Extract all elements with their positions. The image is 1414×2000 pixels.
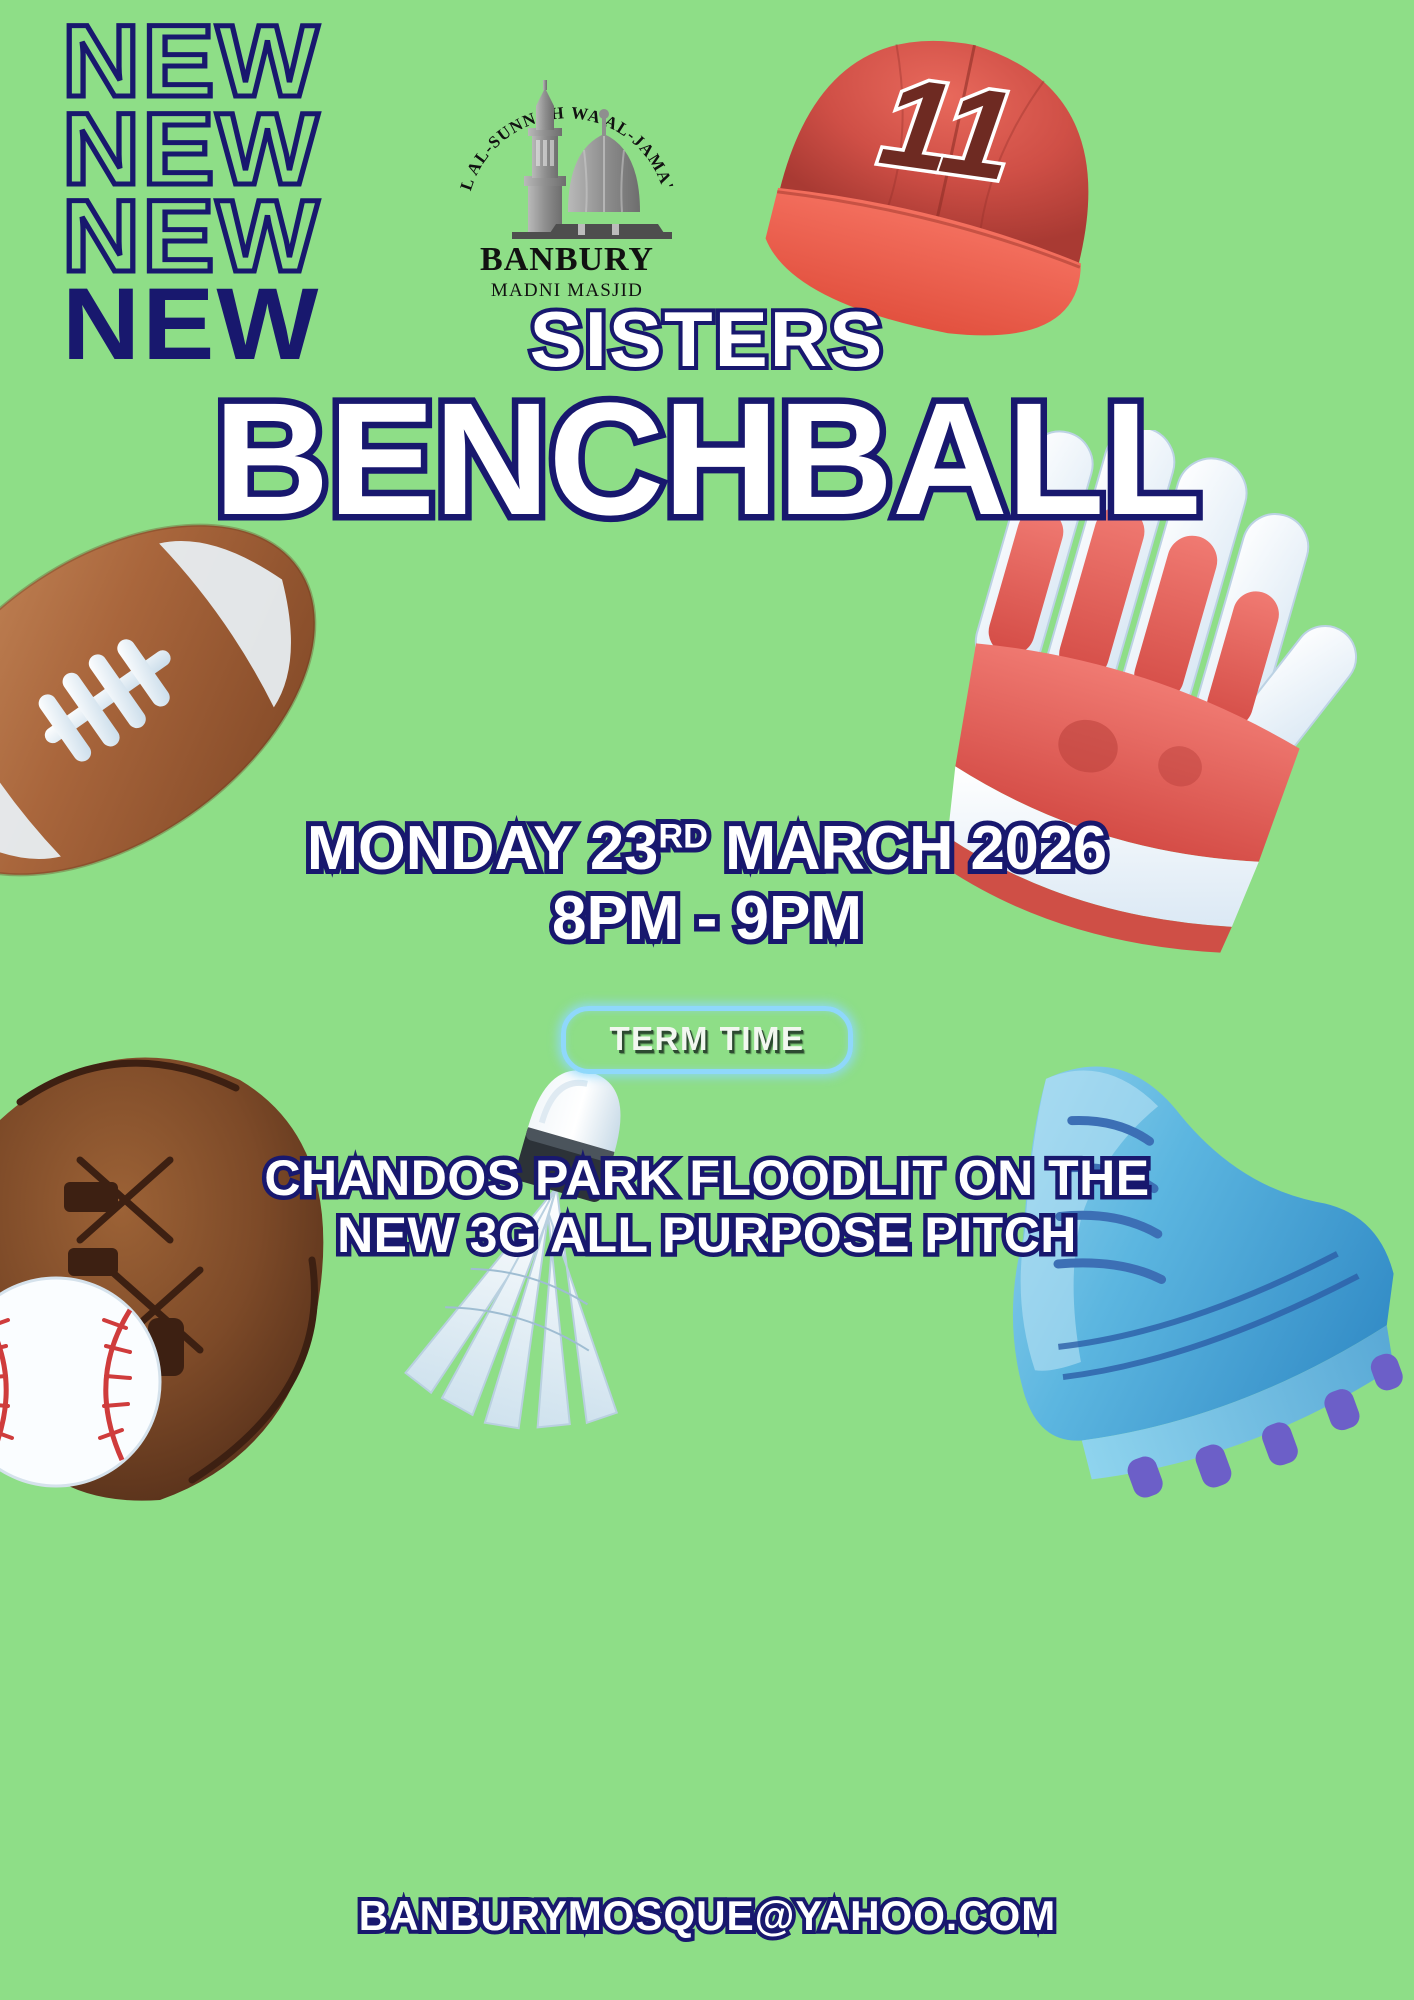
event-date-ordinal: RD (658, 817, 708, 855)
footer-block: BANBURYMOSQUE@YAHOO.COM (0, 1892, 1414, 1940)
logo-arc-text: AHL AL-SUNNAH WA AL-JAMA'AH (452, 72, 678, 193)
term-badge-label: TERM TIME (610, 1020, 805, 1057)
event-time: 8PM - 9PM (0, 886, 1414, 952)
headline-block: SISTERS BENCHBALL (0, 300, 1414, 534)
event-date-prefix: MONDAY 23 (307, 814, 658, 883)
venue-block: CHANDOS PARK FLOODLIT ON THE NEW 3G ALL … (0, 1150, 1414, 1264)
venue-line-1: CHANDOS PARK FLOODLIT ON THE (0, 1150, 1414, 1207)
datetime-block: MONDAY 23RD MARCH 2026 8PM - 9PM (0, 816, 1414, 951)
baseball-mitt-illustration (0, 1010, 360, 1530)
event-date: MONDAY 23RD MARCH 2026 (7, 816, 1407, 882)
cap-number-text: 11 (873, 49, 1022, 207)
mosque-logo: AHL AL-SUNNAH WA AL-JAMA'AH (452, 72, 682, 302)
event-date-suffix: MARCH 2026 (708, 814, 1107, 883)
page-title: BENCHBALL (0, 384, 1414, 534)
baseball-illustration (0, 1278, 160, 1486)
contact-email[interactable]: BANBURYMOSQUE@YAHOO.COM (358, 1892, 1055, 1940)
logo-title: BANBURY (452, 243, 682, 277)
status-badge: TERM TIME (561, 1006, 854, 1074)
term-badge-wrap: TERM TIME (0, 1006, 1414, 1074)
venue-line-2: NEW 3G ALL PURPOSE PITCH (0, 1207, 1414, 1264)
poster-canvas: 11 (0, 0, 1414, 2000)
headline-kicker: SISTERS (0, 300, 1414, 378)
mosque-icon: AHL AL-SUNNAH WA AL-JAMA'AH (452, 72, 682, 247)
